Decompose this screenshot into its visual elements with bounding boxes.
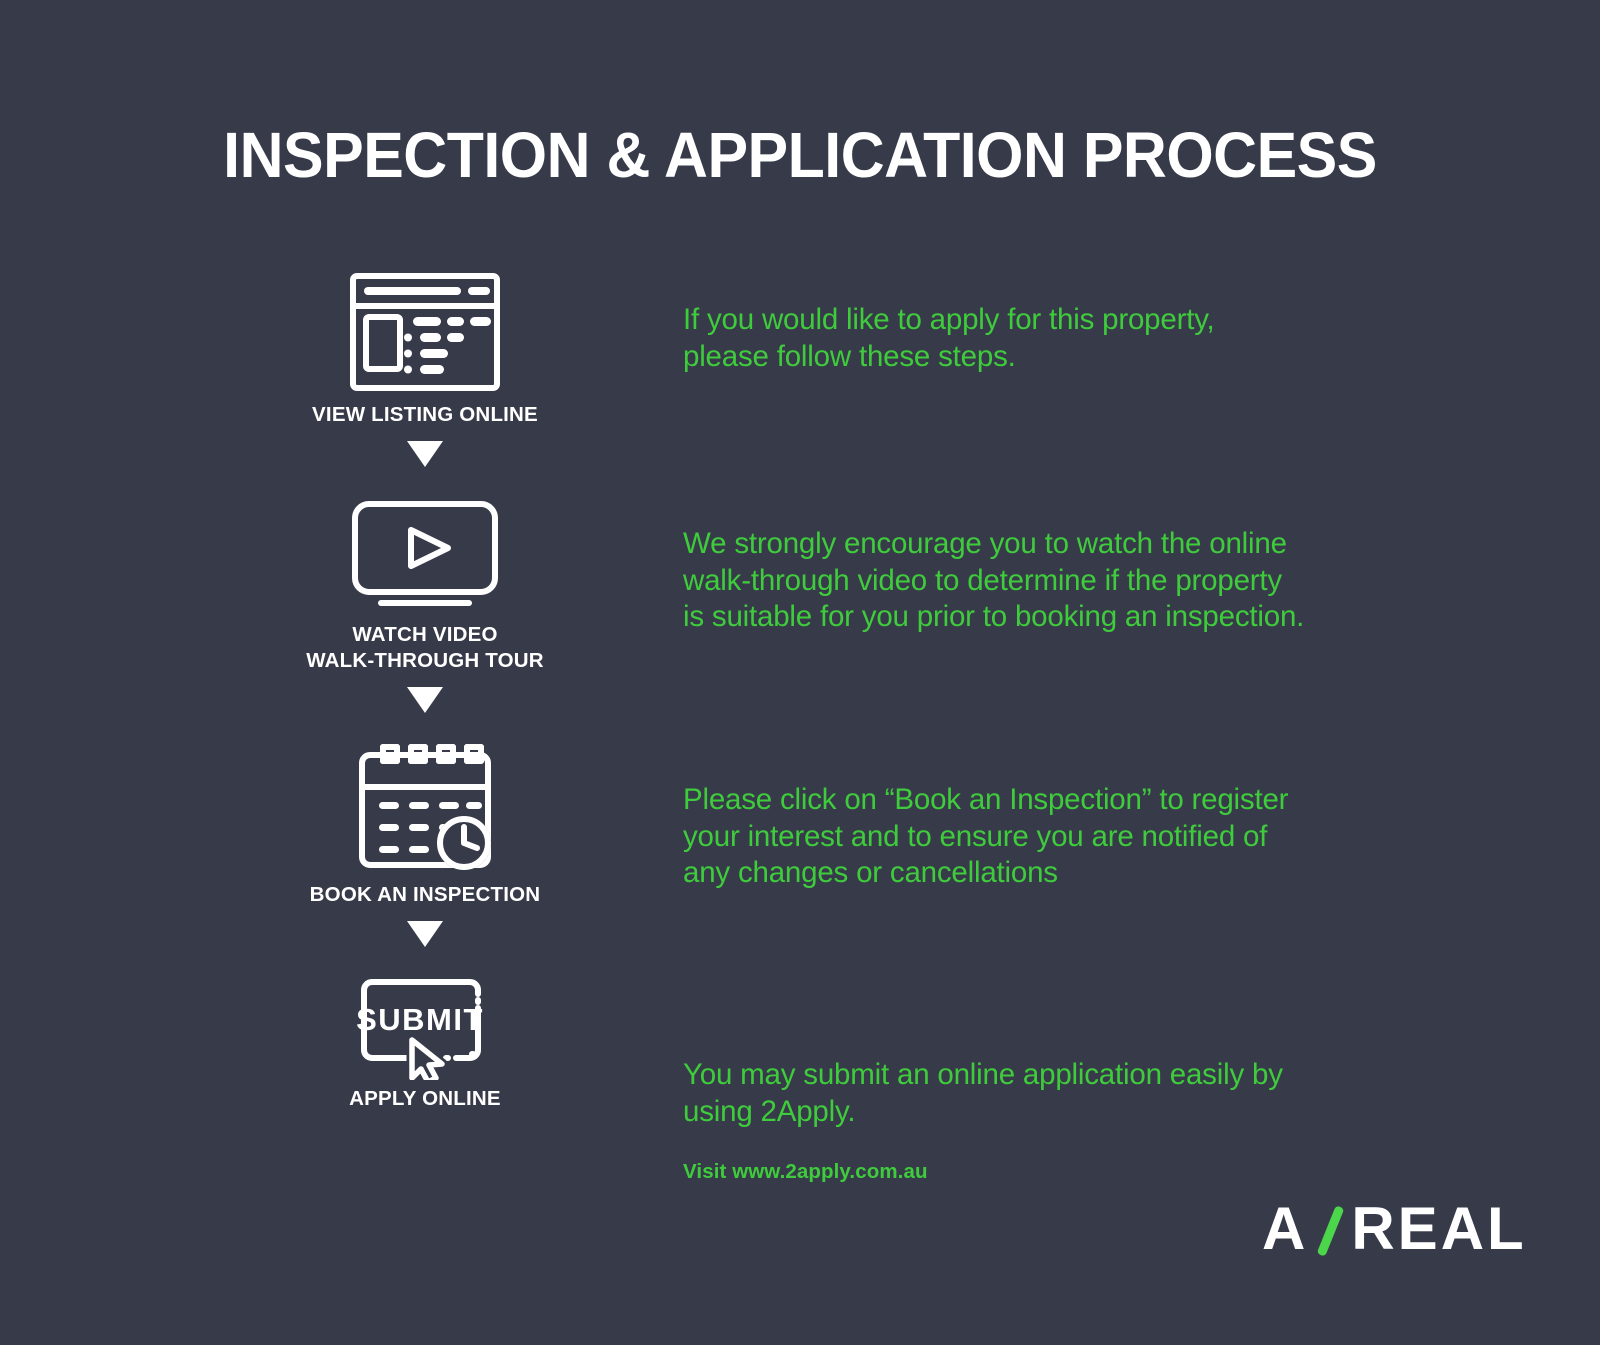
browser-listing-icon bbox=[300, 262, 550, 402]
submit-button-cursor-icon: SUBMIT bbox=[300, 968, 550, 1086]
logo-letter-a: A bbox=[1262, 1194, 1307, 1263]
down-triangle-arrow-icon bbox=[300, 908, 550, 960]
submit-icon-label: SUBMIT bbox=[356, 1002, 484, 1037]
page-title: INSPECTION & APPLICATION PROCESS bbox=[40, 118, 1560, 192]
step-apply-online: SUBMIT APPLY ONLINE bbox=[300, 968, 550, 1112]
video-play-monitor-icon bbox=[300, 490, 550, 622]
copy-paragraph-4: You may submit an online application eas… bbox=[683, 1057, 1423, 1130]
step-label: VIEW LISTING ONLINE bbox=[300, 402, 550, 428]
logo-word-real: REAL bbox=[1351, 1194, 1526, 1263]
copy-paragraph-3: Please click on “Book an Inspection” to … bbox=[683, 782, 1423, 892]
step-view-listing-online: VIEW LISTING ONLINE bbox=[300, 262, 550, 428]
down-triangle-arrow-icon bbox=[300, 674, 550, 726]
down-triangle-arrow-icon bbox=[300, 428, 550, 480]
step-label: APPLY ONLINE bbox=[300, 1086, 550, 1112]
copy-paragraph-2: We strongly encourage you to watch the o… bbox=[683, 526, 1423, 636]
logo-slash-icon bbox=[1313, 1203, 1349, 1255]
step-label: WATCH VIDEO WALK-THROUGH TOUR bbox=[300, 622, 550, 674]
visit-url-text[interactable]: Visit www.2apply.com.au bbox=[683, 1160, 928, 1184]
calendar-clock-icon bbox=[300, 732, 550, 882]
step-watch-video-walk-through-tour: WATCH VIDEO WALK-THROUGH TOUR bbox=[300, 490, 550, 674]
copy-paragraph-1: If you would like to apply for this prop… bbox=[683, 302, 1423, 375]
process-steps-column: VIEW LISTING ONLINE WATCH VIDEO WALK-THR… bbox=[300, 262, 550, 1112]
step-label: BOOK AN INSPECTION bbox=[300, 882, 550, 908]
step-book-an-inspection: BOOK AN INSPECTION bbox=[300, 732, 550, 908]
infographic-poster: INSPECTION & APPLICATION PROCESS bbox=[0, 0, 1600, 1345]
brand-logo: A REAL bbox=[1262, 1194, 1527, 1263]
